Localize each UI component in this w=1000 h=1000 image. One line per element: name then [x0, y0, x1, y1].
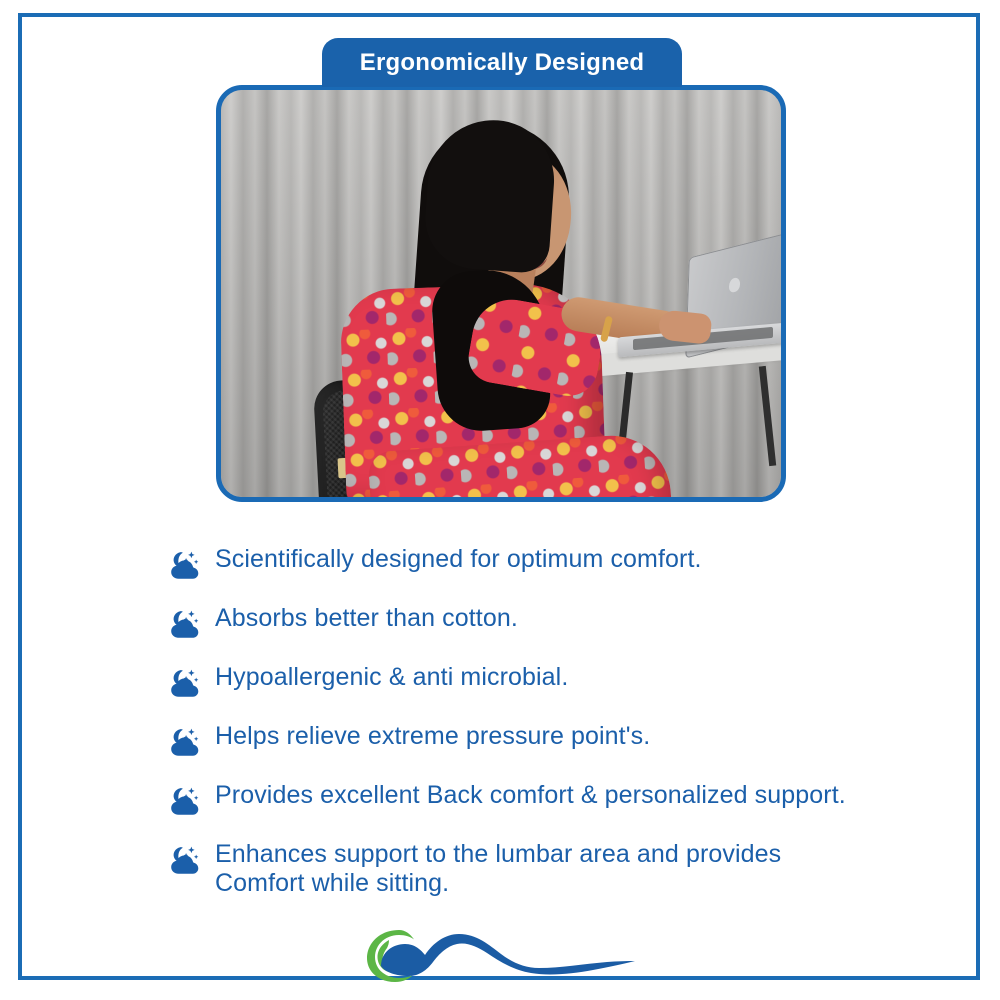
photo-image: [221, 90, 781, 497]
list-item-label: Absorbs better than cotton.: [215, 604, 518, 633]
cloud-moon-stars-icon: [168, 549, 202, 583]
list-item: Absorbs better than cotton.: [168, 604, 968, 642]
title-banner: Ergonomically Designed: [322, 38, 682, 87]
hero-photo-card: [216, 85, 786, 502]
list-item: Enhances support to the lumbar area and …: [168, 840, 968, 898]
list-item-label: Hypoallergenic & anti microbial.: [215, 663, 568, 692]
list-item-label: Helps relieve extreme pressure point's.: [215, 722, 650, 751]
cloud-moon-stars-icon: [168, 608, 202, 642]
list-item: Provides excellent Back comfort & person…: [168, 781, 968, 819]
list-item: Scientifically designed for optimum comf…: [168, 545, 968, 583]
cloud-moon-stars-icon: [168, 785, 202, 819]
list-item: Helps relieve extreme pressure point's.: [168, 722, 968, 760]
page-title: Ergonomically Designed: [360, 49, 644, 77]
list-item-label: Scientifically designed for optimum comf…: [215, 545, 702, 574]
cloud-moon-stars-icon: [168, 667, 202, 701]
cloud-moon-stars-icon: [168, 726, 202, 760]
list-item: Hypoallergenic & anti microbial.: [168, 663, 968, 701]
list-item-label: Enhances support to the lumbar area and …: [215, 840, 781, 898]
list-item-label: Provides excellent Back comfort & person…: [215, 781, 846, 810]
brand-wave-logo: [355, 918, 645, 986]
poster-root: Ergonomically Designed: [0, 0, 1000, 1000]
cloud-moon-stars-icon: [168, 844, 202, 878]
feature-list: Scientifically designed for optimum comf…: [168, 545, 968, 919]
